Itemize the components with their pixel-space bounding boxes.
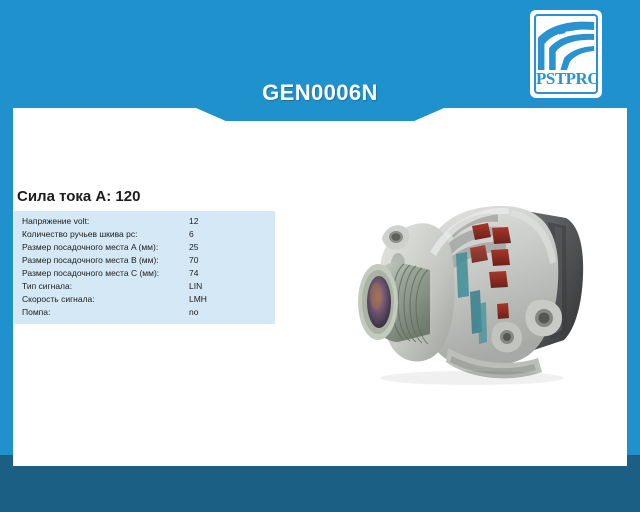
spec-value: no [189,306,269,319]
spec-label: Размер посадочного места B (мм): [22,254,159,267]
spec-label: Размер посадочного места C (мм): [22,267,159,280]
spec-label: Помпа: [22,306,50,319]
spec-label: Скорость сигнала: [22,293,95,306]
footer-bar [0,466,640,512]
product-spec-card: PSTPRO GEN0006N Сила тока А: 120 Напряже… [0,0,640,512]
table-row: Скорость сигнала: LMH [14,293,275,306]
product-image [352,192,620,392]
table-row: Размер посадочного места C (мм): 74 [14,267,275,280]
spec-value: LMH [189,293,269,306]
table-row: Размер посадочного места A (мм): 25 [14,241,275,254]
table-row: Размер посадочного места B (мм): 70 [14,254,275,267]
spec-value: 70 [189,254,269,267]
spec-value: 25 [189,241,269,254]
road-highway-icon [536,18,596,72]
spec-value: 6 [189,228,269,241]
spec-label: Размер посадочного места A (мм): [22,241,158,254]
spec-label: Количество ручьев шкива pc: [22,228,138,241]
table-row: Напряжение volt: 12 [14,215,275,228]
spec-table: Напряжение volt: 12 Количество ручьев шк… [14,211,275,324]
spec-value: 74 [189,267,269,280]
spec-label: Тип сигнала: [22,280,72,293]
spec-heading: Сила тока А: 120 [17,188,140,205]
frame-left-rail [0,0,13,512]
spec-value: LIN [189,280,269,293]
table-row: Количество ручьев шкива pc: 6 [14,228,275,241]
table-row: Тип сигнала: LIN [14,280,275,293]
frame-right-rail [627,0,640,512]
spec-value: 12 [189,215,269,228]
page-title: GEN0006N [0,80,640,106]
title-notch [196,108,444,121]
table-row: Помпа: no [14,306,275,319]
spec-label: Напряжение volt: [22,215,89,228]
alternator-illustration [352,192,620,392]
